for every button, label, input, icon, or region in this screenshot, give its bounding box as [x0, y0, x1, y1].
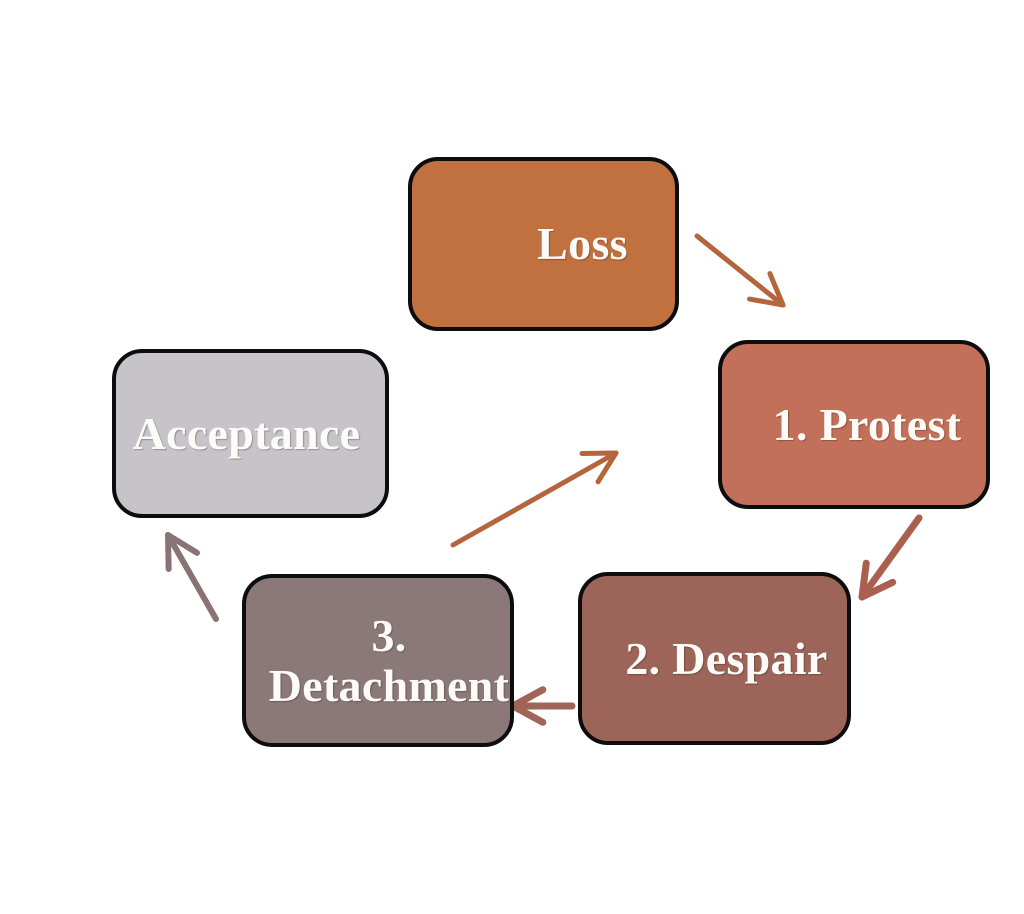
arrow-head-barb-2 — [770, 274, 783, 305]
node-protest[interactable]: 1. Protest — [718, 340, 990, 509]
node-detachment[interactable]: 3. Detachment — [242, 574, 514, 747]
arrow-despair-to-detachment — [513, 690, 572, 723]
arrow-head-barb-1 — [750, 299, 783, 305]
node-protest-label: 1. Protest — [747, 400, 962, 450]
arrow-head-barb-2 — [168, 535, 169, 569]
arrow-head-barb-2 — [862, 582, 893, 597]
node-detachment-label: 3. Detachment — [246, 611, 510, 710]
arrow-shaft — [862, 518, 919, 597]
arrow-head-barb-1 — [862, 563, 866, 597]
node-despair[interactable]: 2. Despair — [578, 572, 851, 745]
arrow-shaft — [453, 453, 616, 545]
node-despair-label: 2. Despair — [601, 634, 827, 684]
node-loss[interactable]: Loss — [408, 157, 679, 331]
node-loss-label: Loss — [459, 219, 628, 269]
node-acceptance[interactable]: Acceptance — [112, 349, 389, 518]
arrow-detachment-to-acceptance — [168, 535, 216, 619]
arrow-head-barb-1 — [598, 453, 616, 482]
arrow-acceptance-to-protest — [453, 453, 616, 545]
diagram-canvas: Loss 1. Protest 2. Despair 3. Detachment… — [0, 0, 1024, 914]
arrow-head-barb-1 — [513, 690, 543, 706]
arrow-head-barb-1 — [168, 535, 197, 553]
arrow-protest-to-despair — [862, 518, 919, 597]
node-acceptance-label: Acceptance — [133, 409, 369, 459]
arrow-shaft — [697, 236, 783, 305]
arrow-loss-to-protest — [697, 236, 783, 305]
arrow-head-barb-2 — [513, 706, 543, 722]
arrow-shaft — [168, 535, 216, 619]
